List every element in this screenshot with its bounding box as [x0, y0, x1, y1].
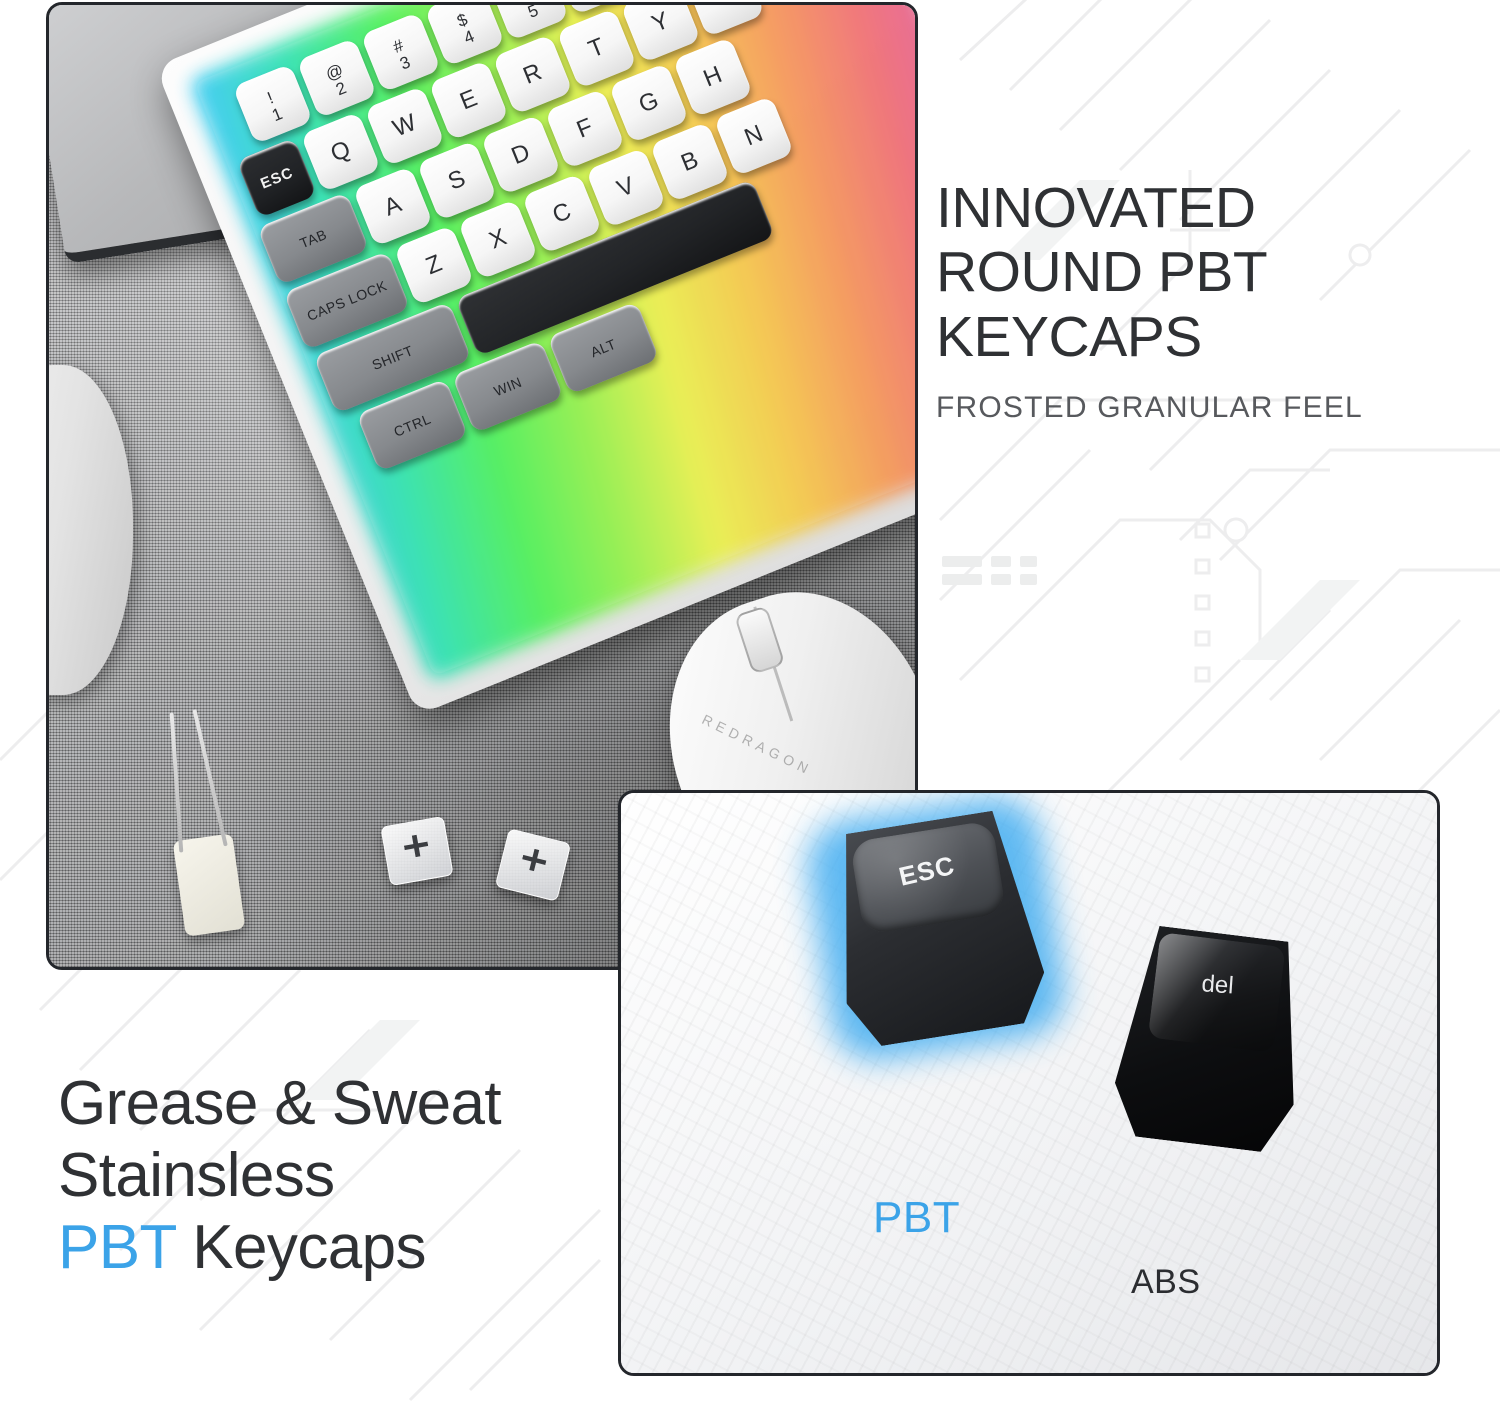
headline-subtitle: FROSTED GRANULAR FEEL	[936, 391, 1476, 425]
keycap-comparison-panel: ESC del PBT ABS	[618, 790, 1440, 1376]
feature-line-2: Stainsless	[58, 1140, 678, 1212]
switch-cross-stem-icon	[520, 846, 549, 873]
headline-line-2: ROUND PBT	[936, 240, 1476, 304]
decorative-dashes	[942, 556, 1037, 585]
mouse-brand-label: REDRAGON	[700, 711, 816, 778]
feature-line-3: PBT Keycaps	[58, 1212, 678, 1284]
feature-line-3-rest: Keycaps	[176, 1213, 426, 1282]
mechanical-switch	[380, 816, 453, 886]
abs-keycap: del	[1109, 923, 1313, 1155]
mouse-scroll-wheel-icon	[734, 605, 785, 674]
feature-accent-pbt: PBT	[58, 1213, 176, 1282]
pbt-caption: PBT	[873, 1193, 960, 1243]
headline-line-3: KEYCAPS	[936, 305, 1476, 369]
feature-text-block: Grease & Sweat Stainsless PBT Keycaps	[58, 1068, 678, 1284]
pbt-keycap: ESC	[820, 807, 1051, 1051]
headline-line-1: INNOVATED	[936, 176, 1476, 240]
feature-line-1: Grease & Sweat	[58, 1068, 678, 1140]
abs-caption: ABS	[1131, 1263, 1201, 1302]
switch-cross-stem-icon	[402, 833, 429, 859]
headline-block: INNOVATED ROUND PBT KEYCAPS FROSTED GRAN…	[936, 176, 1476, 425]
